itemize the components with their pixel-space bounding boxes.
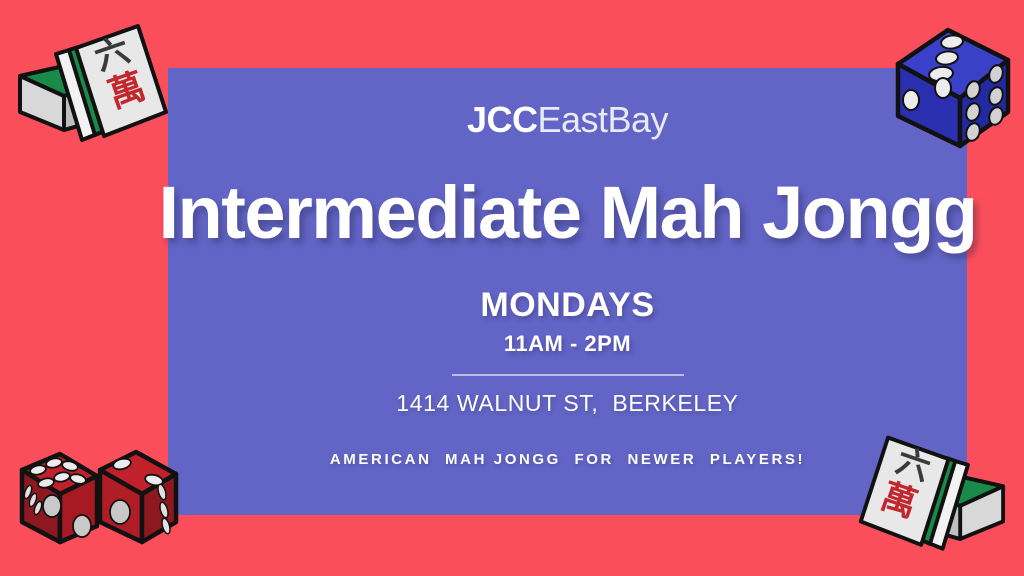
flyer-content: JCCEastBay Intermediate Mah Jongg MONDAY… [168, 68, 967, 515]
event-time: 11AM - 2PM [504, 333, 631, 355]
event-day: MONDAYS [480, 288, 654, 322]
event-address: 1414 WALNUT ST, BERKELEY [396, 392, 738, 415]
red-dice-bottom-left [12, 430, 192, 572]
event-tagline: AMERICAN MAH JONGG FOR NEWER PLAYERS! [330, 452, 805, 467]
section-divider [452, 374, 684, 376]
event-flyer: 六 萬 [0, 0, 1024, 576]
jcc-eastbay-logo: JCCEastBay [467, 102, 668, 138]
mahjong-tiles-top-left: 六 萬 [6, 8, 186, 168]
tile-glyph-six: 六 [90, 30, 135, 79]
logo-eastbay: EastBay [537, 99, 668, 140]
tile-glyph-wan: 萬 [103, 66, 150, 116]
logo-jcc: JCC [467, 99, 538, 140]
event-title: Intermediate Mah Jongg [158, 174, 976, 252]
